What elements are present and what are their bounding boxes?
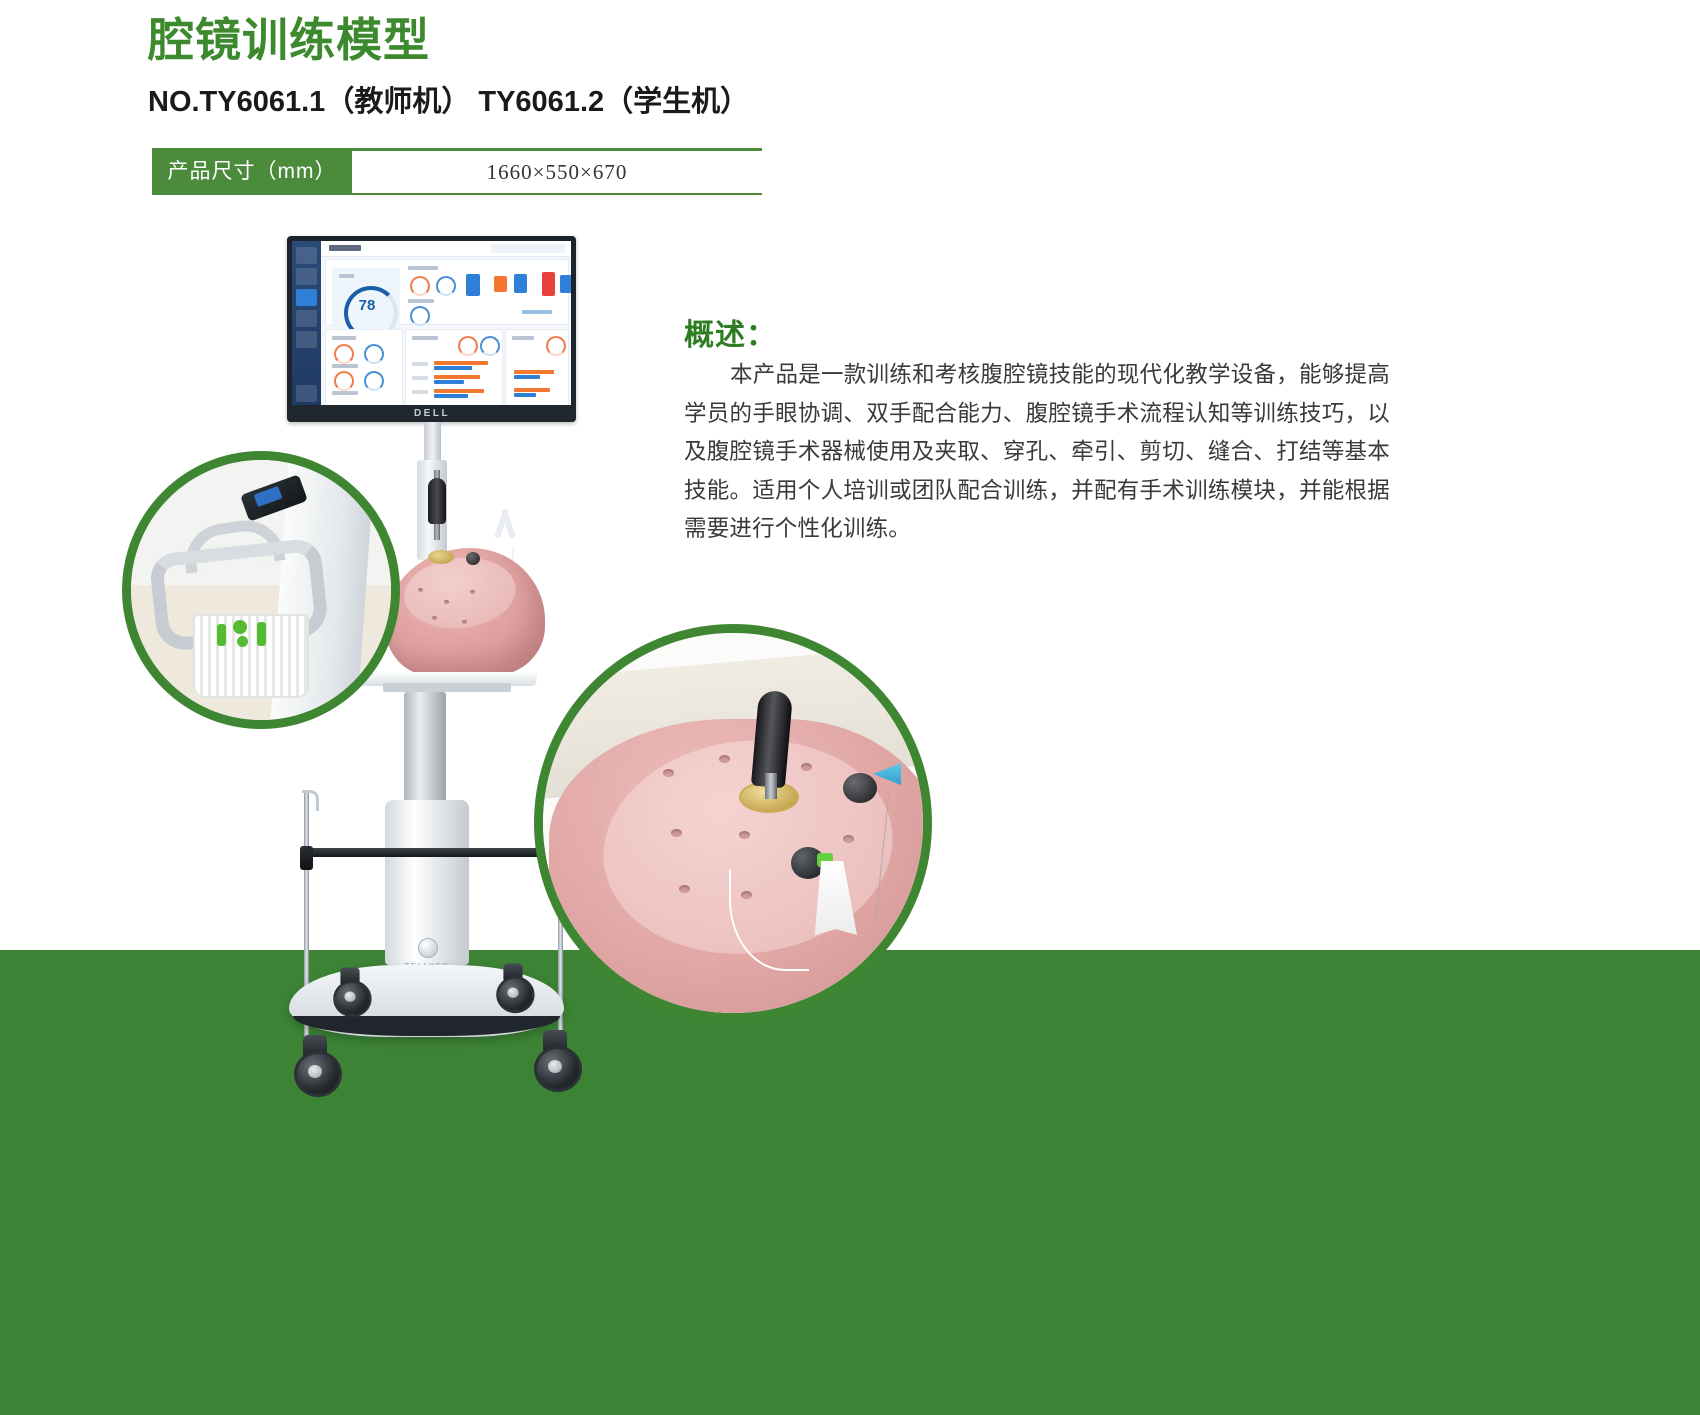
card-left-sub-1 — [332, 364, 358, 368]
score-panel: 78 — [332, 268, 400, 338]
bar-orange-3 — [434, 389, 484, 393]
manikin-port-1 — [418, 588, 423, 592]
sidebar-icon-settings — [296, 331, 317, 348]
inset-photo-abdominal-trainer — [534, 624, 932, 1022]
caster-hub — [308, 1065, 322, 1078]
manikin-port-5 — [462, 620, 467, 624]
card-left-sub-2 — [332, 391, 358, 395]
inset-b-port-3 — [801, 763, 812, 771]
bar-row-label-2 — [412, 376, 428, 380]
bar-blue-5 — [514, 393, 536, 397]
green-item-2 — [233, 620, 247, 634]
sidebar-icon-library — [296, 310, 317, 327]
bar-row-label-3 — [412, 390, 428, 394]
metric-dial-2 — [436, 276, 456, 296]
dashboard-breadcrumb — [329, 245, 361, 251]
caster-front-right — [534, 1030, 576, 1085]
dashboard-card-middle — [405, 329, 503, 407]
metric-tile-5 — [560, 275, 571, 293]
laparoscope-handle — [428, 478, 446, 524]
product-photograph: 78 — [0, 0, 1700, 1415]
metric-tile-3 — [514, 274, 527, 293]
inset-b-laparoscope-shaft — [765, 773, 777, 799]
dell-logo: DELL — [408, 408, 456, 420]
card-right-dial-1 — [546, 336, 566, 356]
metric-dial-3 — [410, 306, 430, 326]
dashboard-sidebar — [292, 241, 321, 407]
cart-cross-arm — [303, 848, 565, 857]
card-left-title — [332, 336, 356, 340]
bar-blue-4 — [514, 375, 540, 379]
manikin-port-2 — [444, 600, 449, 604]
bar-orange-1 — [434, 361, 488, 365]
bar-row-label-1 — [412, 362, 428, 366]
inset-b-trocar-valve — [843, 773, 877, 803]
sidebar-icon-activity — [296, 268, 317, 285]
sidebar-icon-logout — [296, 385, 317, 402]
sidebar-icon-home — [296, 247, 317, 264]
caster-hub — [507, 988, 518, 998]
metric-dial-1 — [410, 276, 430, 296]
cart-base-trim — [293, 1016, 560, 1036]
bar-orange-2 — [434, 375, 480, 379]
inset-b-port-2 — [719, 755, 730, 763]
manikin-trocar-valve — [466, 552, 480, 565]
inset-b-port-6 — [843, 835, 854, 843]
card-right-title — [512, 336, 534, 340]
cart-shelf-underside — [383, 683, 511, 692]
metric-group-label-2 — [408, 299, 434, 303]
inset-a-green-items — [217, 620, 275, 648]
score-value: 78 — [344, 297, 390, 314]
inset-b-port-5 — [739, 831, 750, 839]
score-caption — [339, 274, 354, 278]
monitor-screen: 78 — [292, 241, 571, 407]
inset-b-port-1 — [663, 769, 674, 777]
dashboard-card-right — [505, 329, 569, 407]
green-item-1 — [217, 624, 226, 646]
card-left-dial-1 — [334, 344, 354, 364]
caster-rear-right — [496, 964, 530, 1008]
detail-link — [522, 310, 552, 314]
inset-b-port-4 — [671, 829, 682, 837]
manikin-port-3 — [470, 590, 475, 594]
iv-hook-left — [302, 790, 319, 811]
inset-photo-instrument-basket — [122, 451, 400, 729]
caster-rear-left — [333, 968, 367, 1012]
green-item-3 — [237, 636, 248, 647]
dashboard-account-chip — [491, 244, 565, 253]
pole-clamp-left — [300, 846, 313, 870]
bar-blue-3 — [434, 394, 468, 398]
bar-orange-4 — [514, 370, 554, 374]
inset-b-port-7 — [679, 885, 690, 893]
card-mid-dial-1 — [458, 336, 478, 356]
cart-power-knob — [418, 938, 438, 958]
card-left-dial-2 — [364, 344, 384, 364]
caster-front-left — [294, 1035, 336, 1090]
caster-hub — [344, 992, 355, 1002]
card-mid-title — [412, 336, 438, 340]
cart-lift-column-upper — [404, 692, 446, 804]
green-item-4 — [257, 622, 266, 646]
card-left-dial-4 — [364, 371, 384, 391]
metric-tile-1 — [466, 274, 480, 296]
manikin-port-4 — [432, 616, 437, 620]
manikin-brass-ring — [428, 550, 454, 564]
dashboard-card-left — [325, 329, 403, 407]
bar-blue-1 — [434, 366, 472, 370]
dashboard-summary-card: 78 — [325, 259, 569, 325]
bar-orange-5 — [514, 388, 550, 392]
metric-tile-2 — [494, 276, 507, 292]
dashboard-topbar — [321, 241, 571, 257]
card-mid-dial-2 — [480, 336, 500, 356]
caster-hub — [548, 1060, 562, 1073]
card-left-dial-3 — [334, 371, 354, 391]
metric-group-label-1 — [408, 266, 438, 270]
sidebar-icon-results — [296, 289, 317, 306]
bar-blue-2 — [434, 380, 464, 384]
metric-tile-4 — [542, 272, 555, 296]
